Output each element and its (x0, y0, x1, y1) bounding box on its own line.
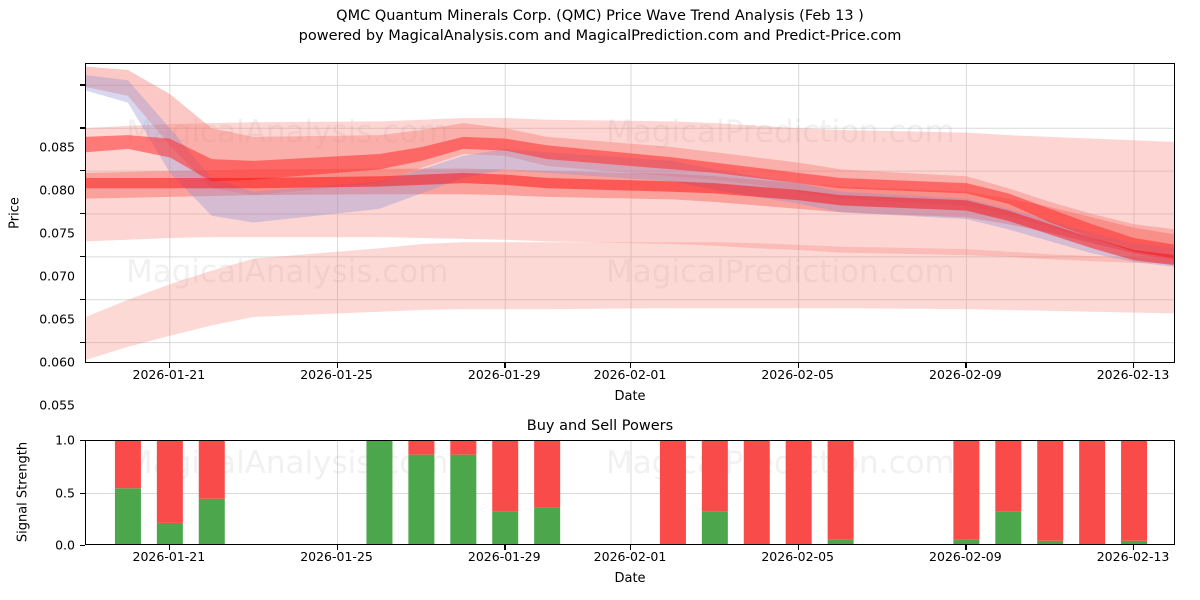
title-block: QMC Quantum Minerals Corp. (QMC) Price W… (0, 6, 1200, 46)
price-y-tick-mark (80, 213, 85, 214)
price-x-tick-label: 2026-01-25 (300, 367, 373, 382)
signal-bar-sell[interactable] (995, 441, 1021, 511)
buy-sell-powers-chart: Signal Strength MagicalAnalysis.comMagic… (85, 440, 1175, 545)
signal-bar-buy[interactable] (534, 507, 560, 545)
signal-x-tick-mark (504, 545, 505, 550)
signal-x-tick-label: 2026-01-25 (300, 549, 373, 564)
price-y-tick-label: 0.055 (39, 397, 75, 412)
signal-y-tick-mark (80, 545, 85, 546)
price-y-tick-label: 0.085 (39, 140, 75, 155)
signal-x-tick-mark (337, 545, 338, 550)
price-y-tick-mark (80, 256, 85, 257)
price-y-tick-label: 0.060 (39, 354, 75, 369)
signal-bar-sell[interactable] (534, 441, 560, 507)
price-y-tick-mark (80, 84, 85, 85)
signal-bar-buy[interactable] (199, 499, 225, 545)
signal-bar-sell[interactable] (1121, 441, 1147, 541)
price-y-tick-label: 0.080 (39, 183, 75, 198)
price-y-tick-label: 0.065 (39, 311, 75, 326)
page-subtitle: powered by MagicalAnalysis.com and Magic… (0, 26, 1200, 46)
price-x-axis-label: Date (614, 389, 645, 404)
signal-bar-buy[interactable] (492, 511, 518, 545)
signal-bar-sell[interactable] (157, 441, 183, 523)
signal-bar-sell[interactable] (660, 441, 686, 545)
signal-bar-sell[interactable] (408, 441, 434, 455)
price-x-tick-mark (504, 363, 505, 368)
svg-text:MagicalPrediction.com: MagicalPrediction.com (606, 445, 955, 481)
signal-x-tick-label: 2026-02-05 (761, 549, 834, 564)
price-x-tick-mark (965, 363, 966, 368)
price-x-tick-label: 2026-01-29 (468, 367, 541, 382)
signal-bars: MagicalAnalysis.comMagicalPrediction.com (86, 441, 1175, 545)
price-y-tick-mark (80, 170, 85, 171)
signal-bar-sell[interactable] (450, 441, 476, 455)
signal-bar-sell[interactable] (115, 441, 141, 488)
chart-page: QMC Quantum Minerals Corp. (QMC) Price W… (0, 0, 1200, 600)
price-x-tick-mark (337, 363, 338, 368)
price-y-tick-label: 0.075 (39, 226, 75, 241)
price-x-tick-label: 2026-01-21 (133, 367, 206, 382)
price-y-tick-mark (80, 299, 85, 300)
price-y-axis-label: Price (8, 197, 23, 229)
price-x-tick-mark (1133, 363, 1134, 368)
signal-bar-buy[interactable] (157, 523, 183, 545)
signal-x-tick-mark (798, 545, 799, 550)
price-x-tick-mark (169, 363, 170, 368)
signal-x-tick-mark (169, 545, 170, 550)
signal-bar-buy[interactable] (115, 488, 141, 545)
signal-x-tick-mark (1133, 545, 1134, 550)
price-x-tick-mark (798, 363, 799, 368)
signal-bar-buy[interactable] (408, 455, 434, 545)
signal-chart-title: Buy and Sell Powers (0, 418, 1200, 434)
signal-y-axis-label: Signal Strength (16, 442, 31, 542)
price-wave-chart: Price MagicalAnalysis.comMagicalPredicti… (85, 63, 1175, 363)
price-x-tick-label: 2026-02-01 (594, 367, 667, 382)
price-x-tick-label: 2026-02-09 (929, 367, 1002, 382)
signal-bar-sell[interactable] (702, 441, 728, 511)
signal-bar-sell[interactable] (199, 441, 225, 499)
price-y-tick-mark (80, 342, 85, 343)
signal-x-tick-label: 2026-01-21 (133, 549, 206, 564)
price-x-tick-label: 2026-02-05 (761, 367, 834, 382)
signal-bar-buy[interactable] (450, 455, 476, 545)
signal-bar-buy[interactable] (995, 511, 1021, 545)
signal-y-tick-label: 0.5 (55, 485, 75, 500)
signal-bar-buy[interactable] (1037, 541, 1063, 545)
signal-bar-buy[interactable] (828, 540, 854, 545)
signal-bar-sell[interactable] (744, 441, 770, 545)
price-x-tick-mark (630, 363, 631, 368)
signal-bar-sell[interactable] (492, 441, 518, 511)
signal-x-tick-label: 2026-01-29 (468, 549, 541, 564)
signal-x-tick-label: 2026-02-13 (1097, 549, 1170, 564)
signal-bar-buy[interactable] (702, 511, 728, 545)
signal-bar-sell[interactable] (1037, 441, 1063, 541)
signal-bar-sell[interactable] (828, 441, 854, 540)
signal-bar-sell[interactable] (786, 441, 812, 545)
signal-bar-sell[interactable] (953, 441, 979, 540)
signal-bar-buy[interactable] (366, 441, 392, 545)
price-y-tick-label: 0.070 (39, 269, 75, 284)
signal-y-tick-mark (80, 440, 85, 441)
signal-x-axis-label: Date (614, 571, 645, 586)
price-y-tick-mark (80, 127, 85, 128)
signal-x-tick-mark (965, 545, 966, 550)
price-plot-area: MagicalAnalysis.comMagicalPrediction.com… (85, 63, 1175, 363)
signal-x-tick-label: 2026-02-01 (594, 549, 667, 564)
page-title: QMC Quantum Minerals Corp. (QMC) Price W… (0, 6, 1200, 26)
signal-plot-area: MagicalAnalysis.comMagicalPrediction.com (85, 440, 1175, 545)
signal-y-tick-mark (80, 493, 85, 494)
signal-y-tick-label: 1.0 (55, 433, 75, 448)
signal-bar-sell[interactable] (1079, 441, 1105, 545)
signal-y-tick-label: 0.0 (55, 538, 75, 553)
signal-x-tick-label: 2026-02-09 (929, 549, 1002, 564)
price-wave-bands: MagicalAnalysis.comMagicalPrediction.com… (86, 64, 1175, 363)
signal-x-tick-mark (630, 545, 631, 550)
price-x-tick-label: 2026-02-13 (1097, 367, 1170, 382)
